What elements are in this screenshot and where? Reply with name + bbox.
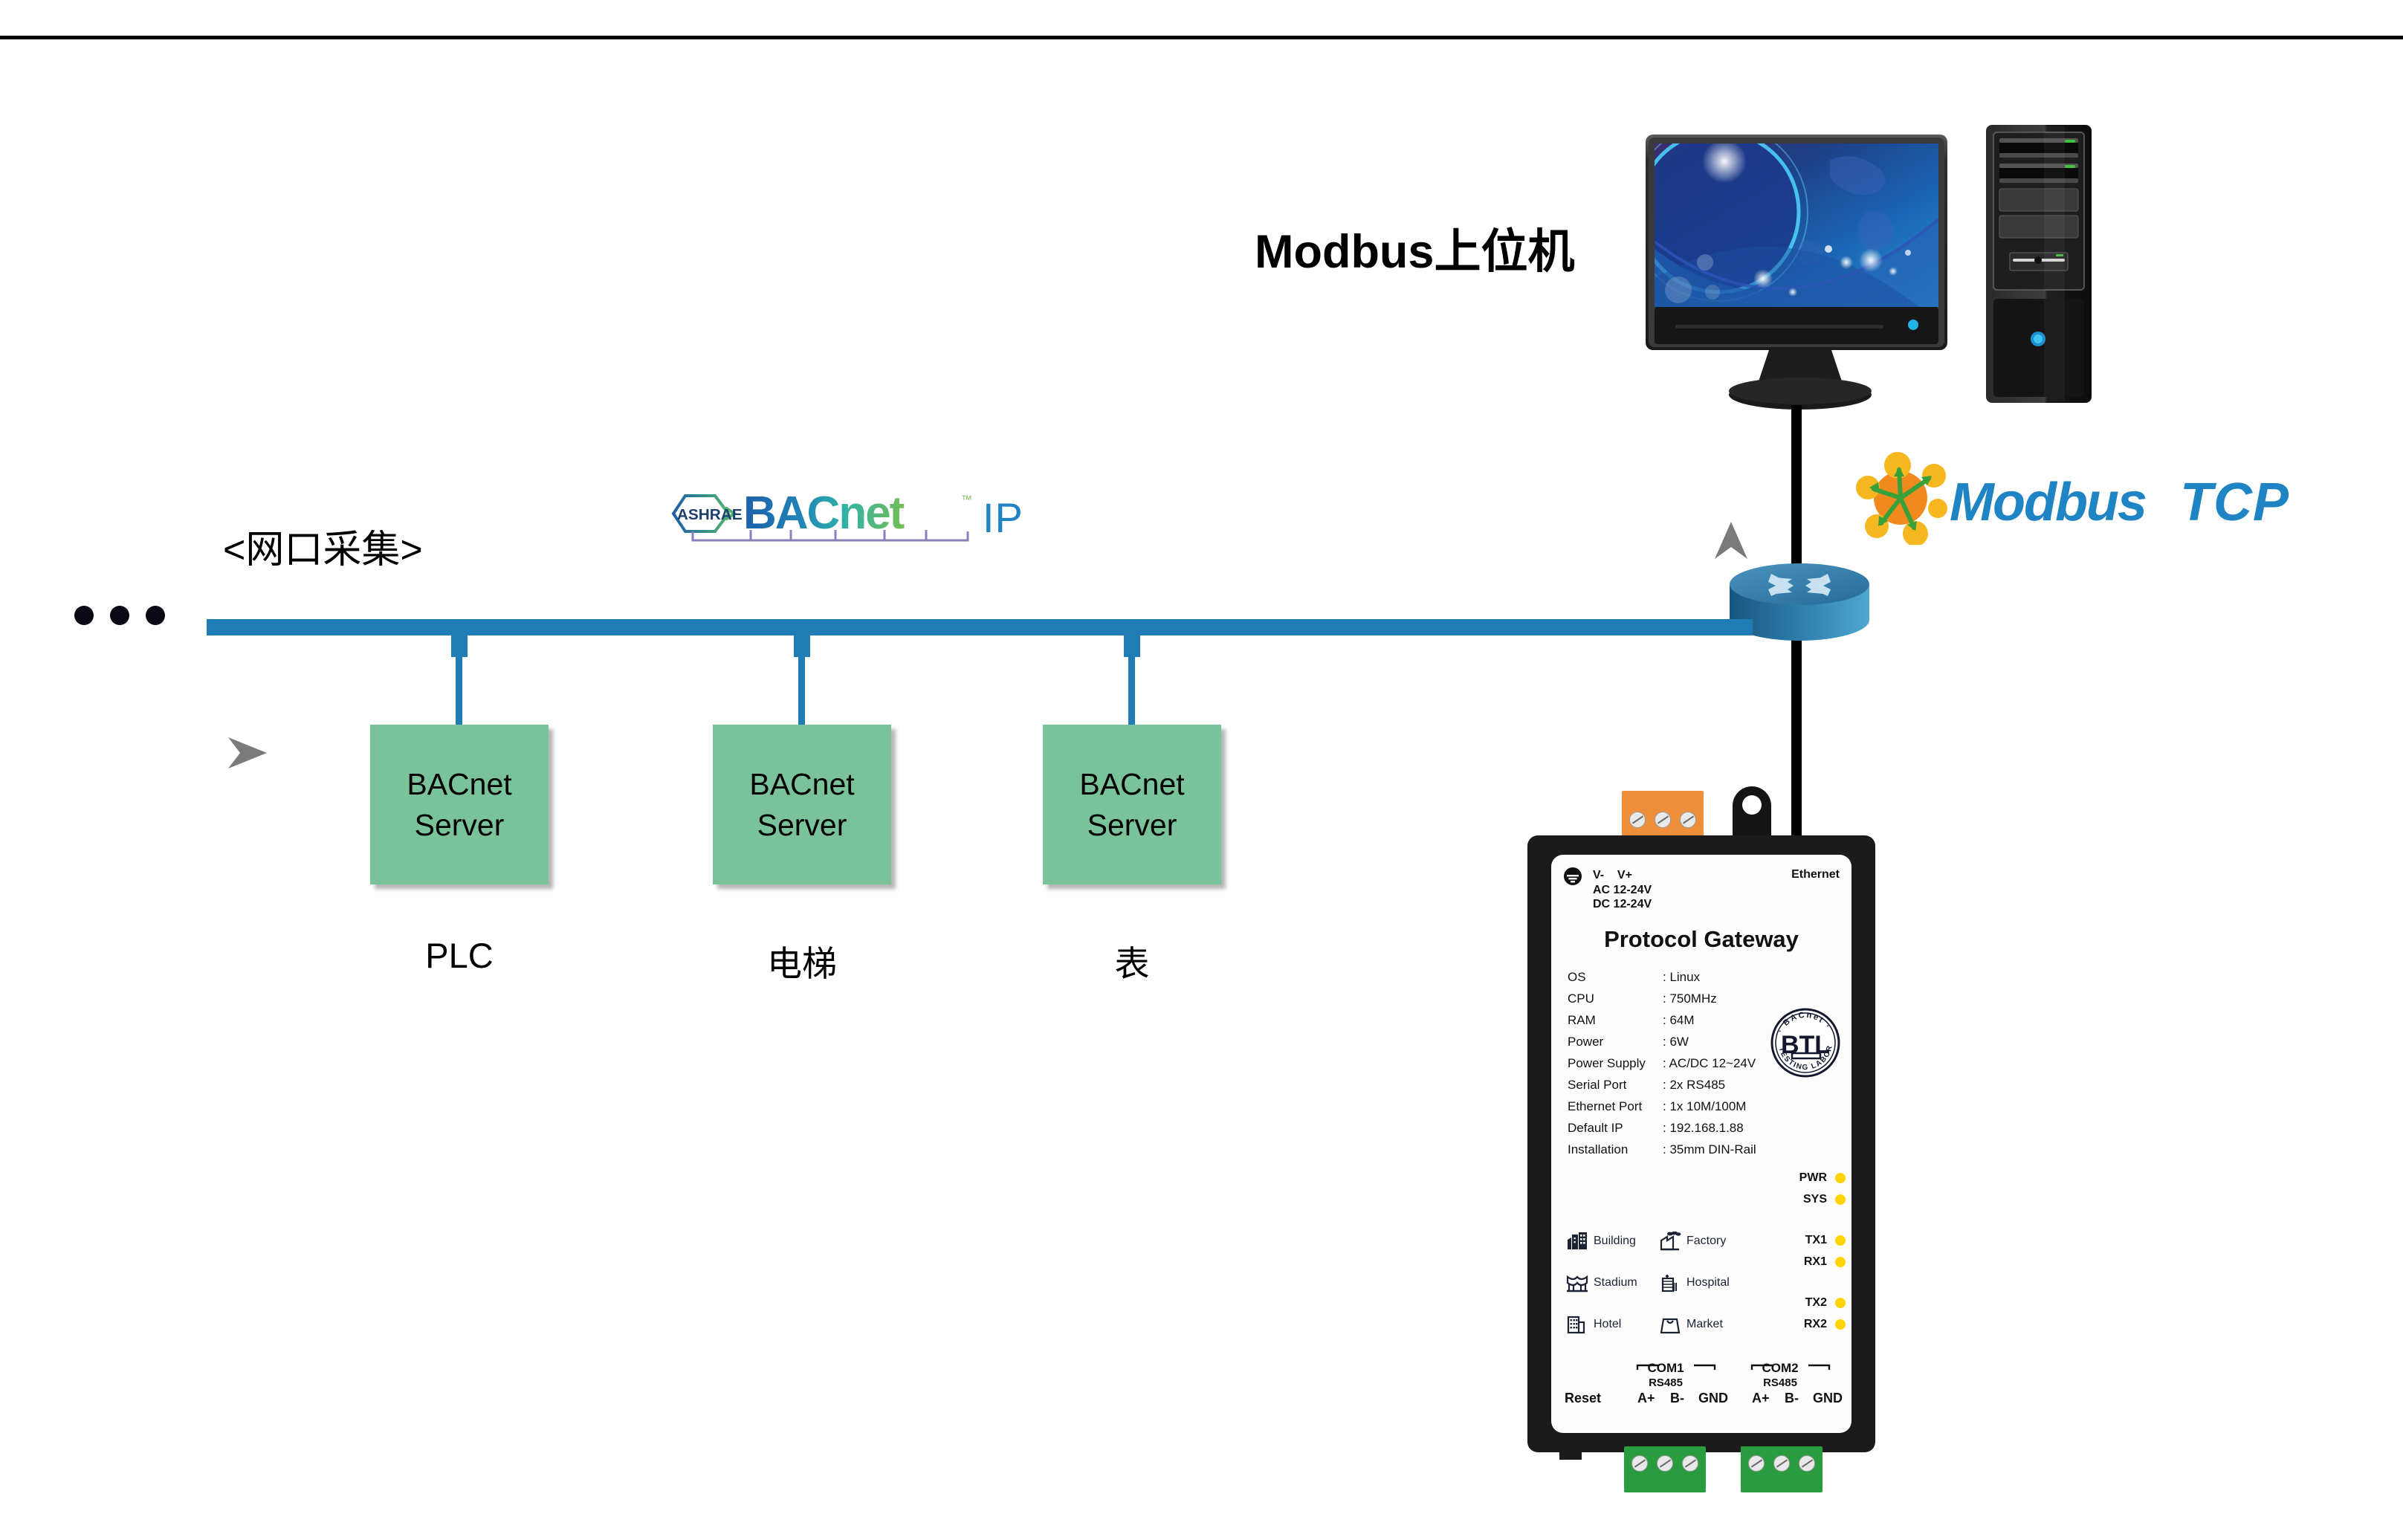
svg-text:COM1: COM1 bbox=[1647, 1361, 1684, 1375]
network-capture-label: <网口采集> bbox=[223, 518, 423, 574]
spec-key: Power bbox=[1568, 1035, 1663, 1048]
bus-drop-line bbox=[456, 657, 462, 731]
svg-text:GND: GND bbox=[1813, 1391, 1843, 1405]
app-row: Building Factory bbox=[1566, 1220, 1752, 1262]
bacnet-ip-label: IP bbox=[983, 494, 1023, 542]
modbus-tcp-logo: Modbus TCP bbox=[1854, 452, 2300, 545]
spec-row: Power Supply : AC/DC 12~24V bbox=[1568, 1052, 1791, 1074]
modbus-starburst-icon bbox=[1856, 452, 1947, 545]
gateway-faceplate: V- V+ AC 12-24V DC 12-24V Ethernet Proto… bbox=[1551, 855, 1851, 1433]
page-title: Modbus上位机 bbox=[1255, 214, 1574, 282]
spec-value: : 192.168.1.88 bbox=[1663, 1122, 1744, 1134]
spec-value: : Linux bbox=[1663, 971, 1700, 983]
app-row: Stadium Hospital bbox=[1566, 1262, 1752, 1304]
led-label: PWR bbox=[1799, 1171, 1827, 1185]
led-row: SYS bbox=[1762, 1188, 1846, 1210]
svg-text:B-: B- bbox=[1670, 1391, 1684, 1405]
led-label: SYS bbox=[1803, 1193, 1827, 1206]
spec-key: Default IP bbox=[1568, 1122, 1663, 1134]
svg-text:GND: GND bbox=[1698, 1391, 1728, 1405]
bus-drop-tab bbox=[451, 630, 468, 657]
app-label: Stadium bbox=[1594, 1276, 1637, 1290]
app-market: Market bbox=[1659, 1315, 1752, 1334]
led-row: PWR bbox=[1762, 1167, 1846, 1188]
spec-value: : 64M bbox=[1663, 1014, 1695, 1026]
bacnet-server-box: BACnet Server bbox=[1043, 725, 1221, 884]
spec-row: Serial Port : 2x RS485 bbox=[1568, 1074, 1791, 1096]
top-divider-rule bbox=[0, 36, 2403, 39]
spec-row: CPU : 750MHz bbox=[1568, 988, 1791, 1009]
bacnet-server-line2: Server bbox=[415, 805, 505, 845]
app-label: Building bbox=[1594, 1235, 1636, 1248]
device-label-elevator: 电梯 bbox=[713, 935, 891, 986]
app-label: Factory bbox=[1686, 1235, 1726, 1248]
spec-key: Serial Port bbox=[1568, 1078, 1663, 1091]
bus-drop-line bbox=[1128, 657, 1135, 731]
power-input-label: V- V+ AC 12-24V DC 12-24V bbox=[1593, 868, 1652, 912]
device-label-meter: 表 bbox=[1043, 935, 1221, 986]
bacnet-server-line2: Server bbox=[1087, 805, 1177, 845]
led-label: TX1 bbox=[1805, 1234, 1827, 1247]
svg-text:RS485: RS485 bbox=[1649, 1376, 1683, 1389]
com2-terminal-block bbox=[1741, 1446, 1823, 1492]
gateway-spec-table: OS : Linux CPU : 750MHz RAM : 64M Power … bbox=[1568, 966, 1791, 1160]
bacnet-ip-bus bbox=[207, 619, 1753, 635]
flow-direction-arrow-icon bbox=[227, 736, 268, 770]
building-icon bbox=[1566, 1232, 1588, 1251]
svg-text:BACnet: BACnet bbox=[743, 488, 905, 539]
btl-certification-logo: · BACnet · TESTING LABORATORIES BTL bbox=[1770, 1007, 1841, 1078]
spec-row: RAM : 64M bbox=[1568, 1009, 1791, 1031]
led-label: RX1 bbox=[1804, 1255, 1827, 1269]
spec-value: : AC/DC 12~24V bbox=[1663, 1057, 1756, 1070]
status-led-panel: PWR SYS TX1 RX1 TX2 bbox=[1762, 1167, 1846, 1335]
market-icon bbox=[1659, 1315, 1681, 1334]
led-label: RX2 bbox=[1804, 1318, 1827, 1331]
ethernet-label: Ethernet bbox=[1791, 868, 1840, 881]
led-label: TX2 bbox=[1805, 1296, 1827, 1310]
spec-key: CPU bbox=[1568, 992, 1663, 1005]
bus-drop-tab bbox=[794, 630, 810, 657]
svg-text:COM2: COM2 bbox=[1762, 1361, 1798, 1375]
led-indicator bbox=[1835, 1257, 1846, 1267]
spec-key: RAM bbox=[1568, 1014, 1663, 1026]
bacnet-logo: ASHRAE BACnet ™ bbox=[660, 487, 1032, 546]
svg-text:BTL: BTL bbox=[1781, 1031, 1830, 1059]
bus-drop-line bbox=[798, 657, 805, 731]
svg-text:A+: A+ bbox=[1637, 1391, 1655, 1405]
hotel-icon bbox=[1566, 1315, 1588, 1334]
application-icon-grid: Building Factory bbox=[1566, 1220, 1752, 1345]
svg-text:TCP: TCP bbox=[2180, 473, 2289, 532]
app-factory: Factory bbox=[1659, 1232, 1752, 1251]
led-row: TX2 bbox=[1762, 1292, 1846, 1313]
bacnet-server-line2: Server bbox=[757, 805, 847, 845]
ground-symbol-icon bbox=[1563, 867, 1582, 890]
spec-key: Installation bbox=[1568, 1143, 1663, 1156]
spec-key: Power Supply bbox=[1568, 1057, 1663, 1070]
spec-row: OS : Linux bbox=[1568, 966, 1791, 988]
svg-text:Modbus: Modbus bbox=[1950, 473, 2146, 532]
spec-value: : 1x 10M/100M bbox=[1663, 1100, 1746, 1113]
serial-port-labels: COM1 RS485 COM2 RS485 Reset A+ B- GND A+… bbox=[1557, 1359, 1849, 1412]
spec-row: Default IP : 192.168.1.88 bbox=[1568, 1117, 1791, 1139]
spec-value: : 6W bbox=[1663, 1035, 1689, 1048]
ashrae-hexagon-icon: ASHRAE bbox=[673, 496, 743, 531]
uplink-arrow-icon bbox=[1714, 520, 1748, 562]
factory-icon bbox=[1659, 1232, 1681, 1251]
spec-row: Installation : 35mm DIN-Rail bbox=[1568, 1139, 1791, 1160]
app-row: Hotel Market bbox=[1566, 1304, 1752, 1345]
led-indicator bbox=[1835, 1173, 1846, 1183]
com1-terminal-block bbox=[1624, 1446, 1706, 1492]
svg-text:ASHRAE: ASHRAE bbox=[677, 507, 743, 523]
modbus-host-tower bbox=[1983, 120, 2095, 407]
spec-value: : 750MHz bbox=[1663, 992, 1717, 1005]
spec-key: OS bbox=[1568, 971, 1663, 983]
gateway-title: Protocol Gateway bbox=[1551, 926, 1851, 953]
led-row: RX1 bbox=[1762, 1251, 1846, 1272]
spec-value: : 35mm DIN-Rail bbox=[1663, 1143, 1756, 1156]
spec-key: Ethernet Port bbox=[1568, 1100, 1663, 1113]
device-label-plc: PLC bbox=[370, 935, 549, 976]
app-label: Hotel bbox=[1594, 1318, 1621, 1331]
app-stadium: Stadium bbox=[1566, 1273, 1659, 1292]
stadium-icon bbox=[1566, 1273, 1588, 1292]
protocol-gateway-device: V- V+ AC 12-24V DC 12-24V Ethernet Proto… bbox=[1527, 835, 1875, 1452]
bacnet-server-line1: BACnet bbox=[749, 764, 854, 804]
power-terminal-block bbox=[1622, 791, 1704, 838]
modbus-host-monitor bbox=[1644, 130, 1971, 416]
app-label: Market bbox=[1686, 1318, 1723, 1331]
spec-row: Power : 6W bbox=[1568, 1031, 1791, 1052]
spec-row: Ethernet Port : 1x 10M/100M bbox=[1568, 1096, 1791, 1117]
led-indicator bbox=[1835, 1194, 1846, 1205]
led-indicator bbox=[1835, 1235, 1846, 1246]
svg-text:Reset: Reset bbox=[1565, 1391, 1601, 1405]
bacnet-server-line1: BACnet bbox=[407, 764, 511, 804]
spec-value: : 2x RS485 bbox=[1663, 1078, 1725, 1091]
app-label: Hospital bbox=[1686, 1276, 1730, 1290]
hospital-icon bbox=[1659, 1273, 1681, 1292]
bacnet-server-box: BACnet Server bbox=[370, 725, 549, 884]
led-row: TX1 bbox=[1762, 1229, 1846, 1251]
din-rail-clip bbox=[1559, 1448, 1582, 1460]
bacnet-server-line1: BACnet bbox=[1079, 764, 1184, 804]
bus-drop-tab bbox=[1124, 630, 1140, 657]
diagram-canvas: Modbus上位机 bbox=[0, 0, 2403, 1540]
bus-continuation-dots bbox=[74, 606, 171, 628]
app-hotel: Hotel bbox=[1566, 1315, 1659, 1334]
led-row: RX2 bbox=[1762, 1313, 1846, 1335]
svg-text:B-: B- bbox=[1785, 1391, 1799, 1405]
led-indicator bbox=[1835, 1298, 1846, 1308]
svg-text:A+: A+ bbox=[1752, 1391, 1770, 1405]
bacnet-server-box: BACnet Server bbox=[713, 725, 891, 884]
app-hospital: Hospital bbox=[1659, 1273, 1752, 1292]
svg-text:™: ™ bbox=[961, 494, 972, 506]
ethernet-port bbox=[1733, 786, 1771, 841]
led-indicator bbox=[1835, 1319, 1846, 1330]
app-building: Building bbox=[1566, 1232, 1659, 1251]
svg-text:RS485: RS485 bbox=[1763, 1376, 1797, 1389]
